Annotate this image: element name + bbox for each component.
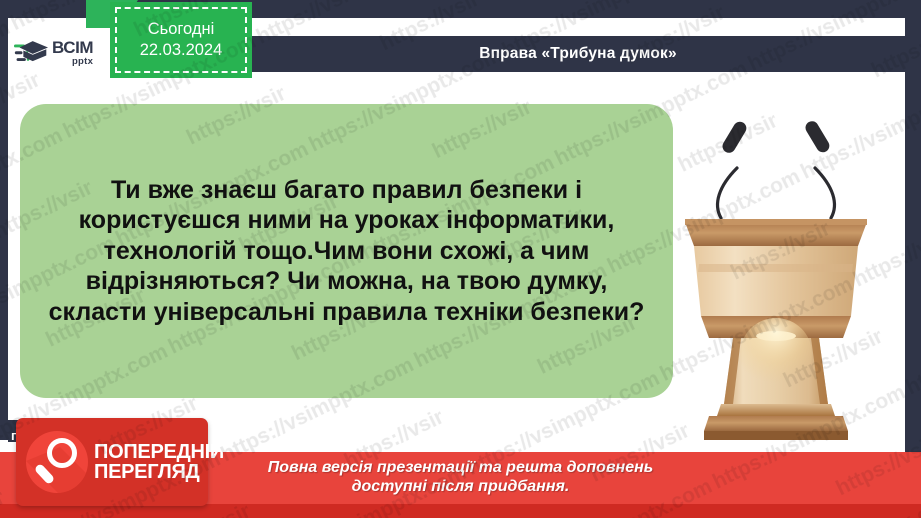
brand-logo[interactable]: ВСІМ pptx xyxy=(8,28,120,78)
preview-badge-line-2: ПЕРЕГЛЯД xyxy=(94,462,224,482)
brand-logo-text: ВСІМ pptx xyxy=(52,39,93,67)
brand-name: ВСІМ xyxy=(52,39,93,56)
wooden-podium-illustration xyxy=(645,86,905,448)
banner-bottom-strip xyxy=(0,504,921,518)
slide-canvas: п с 101 xyxy=(0,0,921,518)
page-title: Вправа «Трибуна думок» xyxy=(479,45,677,63)
main-text-panel: Ти вже знаєш багато правил безпеки і кор… xyxy=(20,104,673,398)
preview-badge-line-1: ПОПЕРЕДНІЙ xyxy=(94,442,224,462)
banner-line-1: Повна версія презентації та решта доповн… xyxy=(268,459,654,478)
slide-header-bar: Вправа «Трибуна думок» xyxy=(251,36,905,72)
magnifier-icon xyxy=(26,431,88,493)
date-badge-value: 22.03.2024 xyxy=(140,41,223,60)
slide-frame-right xyxy=(905,0,921,518)
date-badge: Сьогодні 22.03.2024 xyxy=(110,2,252,78)
main-text: Ти вже знаєш багато правил безпеки і кор… xyxy=(38,175,655,328)
preview-badge[interactable]: ПОПЕРЕДНІЙ ПЕРЕГЛЯД xyxy=(16,418,208,506)
preview-badge-text: ПОПЕРЕДНІЙ ПЕРЕГЛЯД xyxy=(94,442,224,482)
brand-subtitle: pptx xyxy=(72,57,93,67)
date-badge-label: Сьогодні xyxy=(148,20,215,39)
banner-line-2: доступні після придбання. xyxy=(352,478,570,497)
slide-frame-left xyxy=(0,0,8,440)
graduation-cap-icon xyxy=(14,38,48,68)
